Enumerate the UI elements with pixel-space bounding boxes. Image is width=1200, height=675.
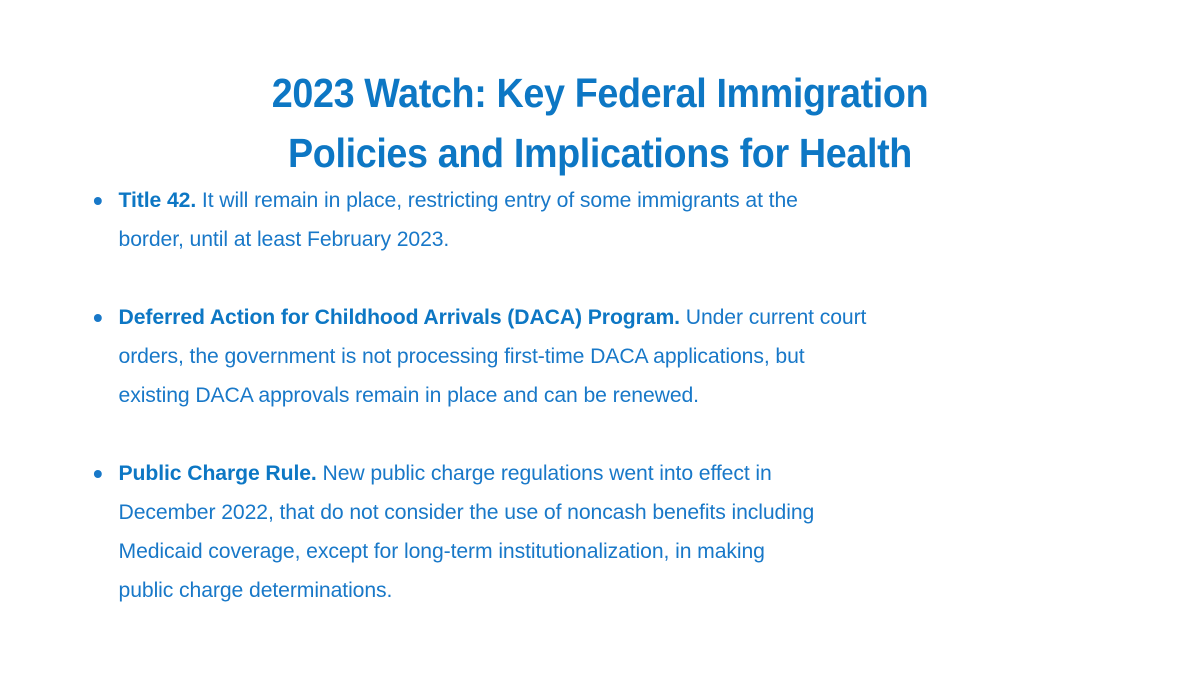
bullet-lead-in: Title 42.	[119, 188, 197, 212]
list-item: Title 42. It will remain in place, restr…	[88, 181, 1093, 259]
bullet-content: Title 42. It will remain in place, restr…	[119, 181, 1093, 259]
page-title: 2023 Watch: Key Federal Immigration Poli…	[48, 63, 1152, 183]
bullet-dot-icon	[94, 197, 102, 205]
bullet-content: Deferred Action for Childhood Arrivals (…	[119, 298, 1093, 415]
list-item: Public Charge Rule. New public charge re…	[88, 454, 1093, 610]
bullet-lead-in: Deferred Action for Childhood Arrivals (…	[119, 305, 680, 329]
bullet-lead-in: Public Charge Rule.	[119, 461, 317, 485]
policy-bullet-list: Title 42. It will remain in place, restr…	[88, 181, 1108, 610]
bullet-dot-icon	[94, 470, 102, 478]
list-item: Deferred Action for Childhood Arrivals (…	[88, 298, 1093, 415]
bullet-body: It will remain in place, restricting ent…	[119, 188, 798, 251]
slide-canvas: 2023 Watch: Key Federal Immigration Poli…	[0, 0, 1200, 675]
bullet-content: Public Charge Rule. New public charge re…	[119, 454, 1093, 610]
bullet-dot-icon	[94, 314, 102, 322]
